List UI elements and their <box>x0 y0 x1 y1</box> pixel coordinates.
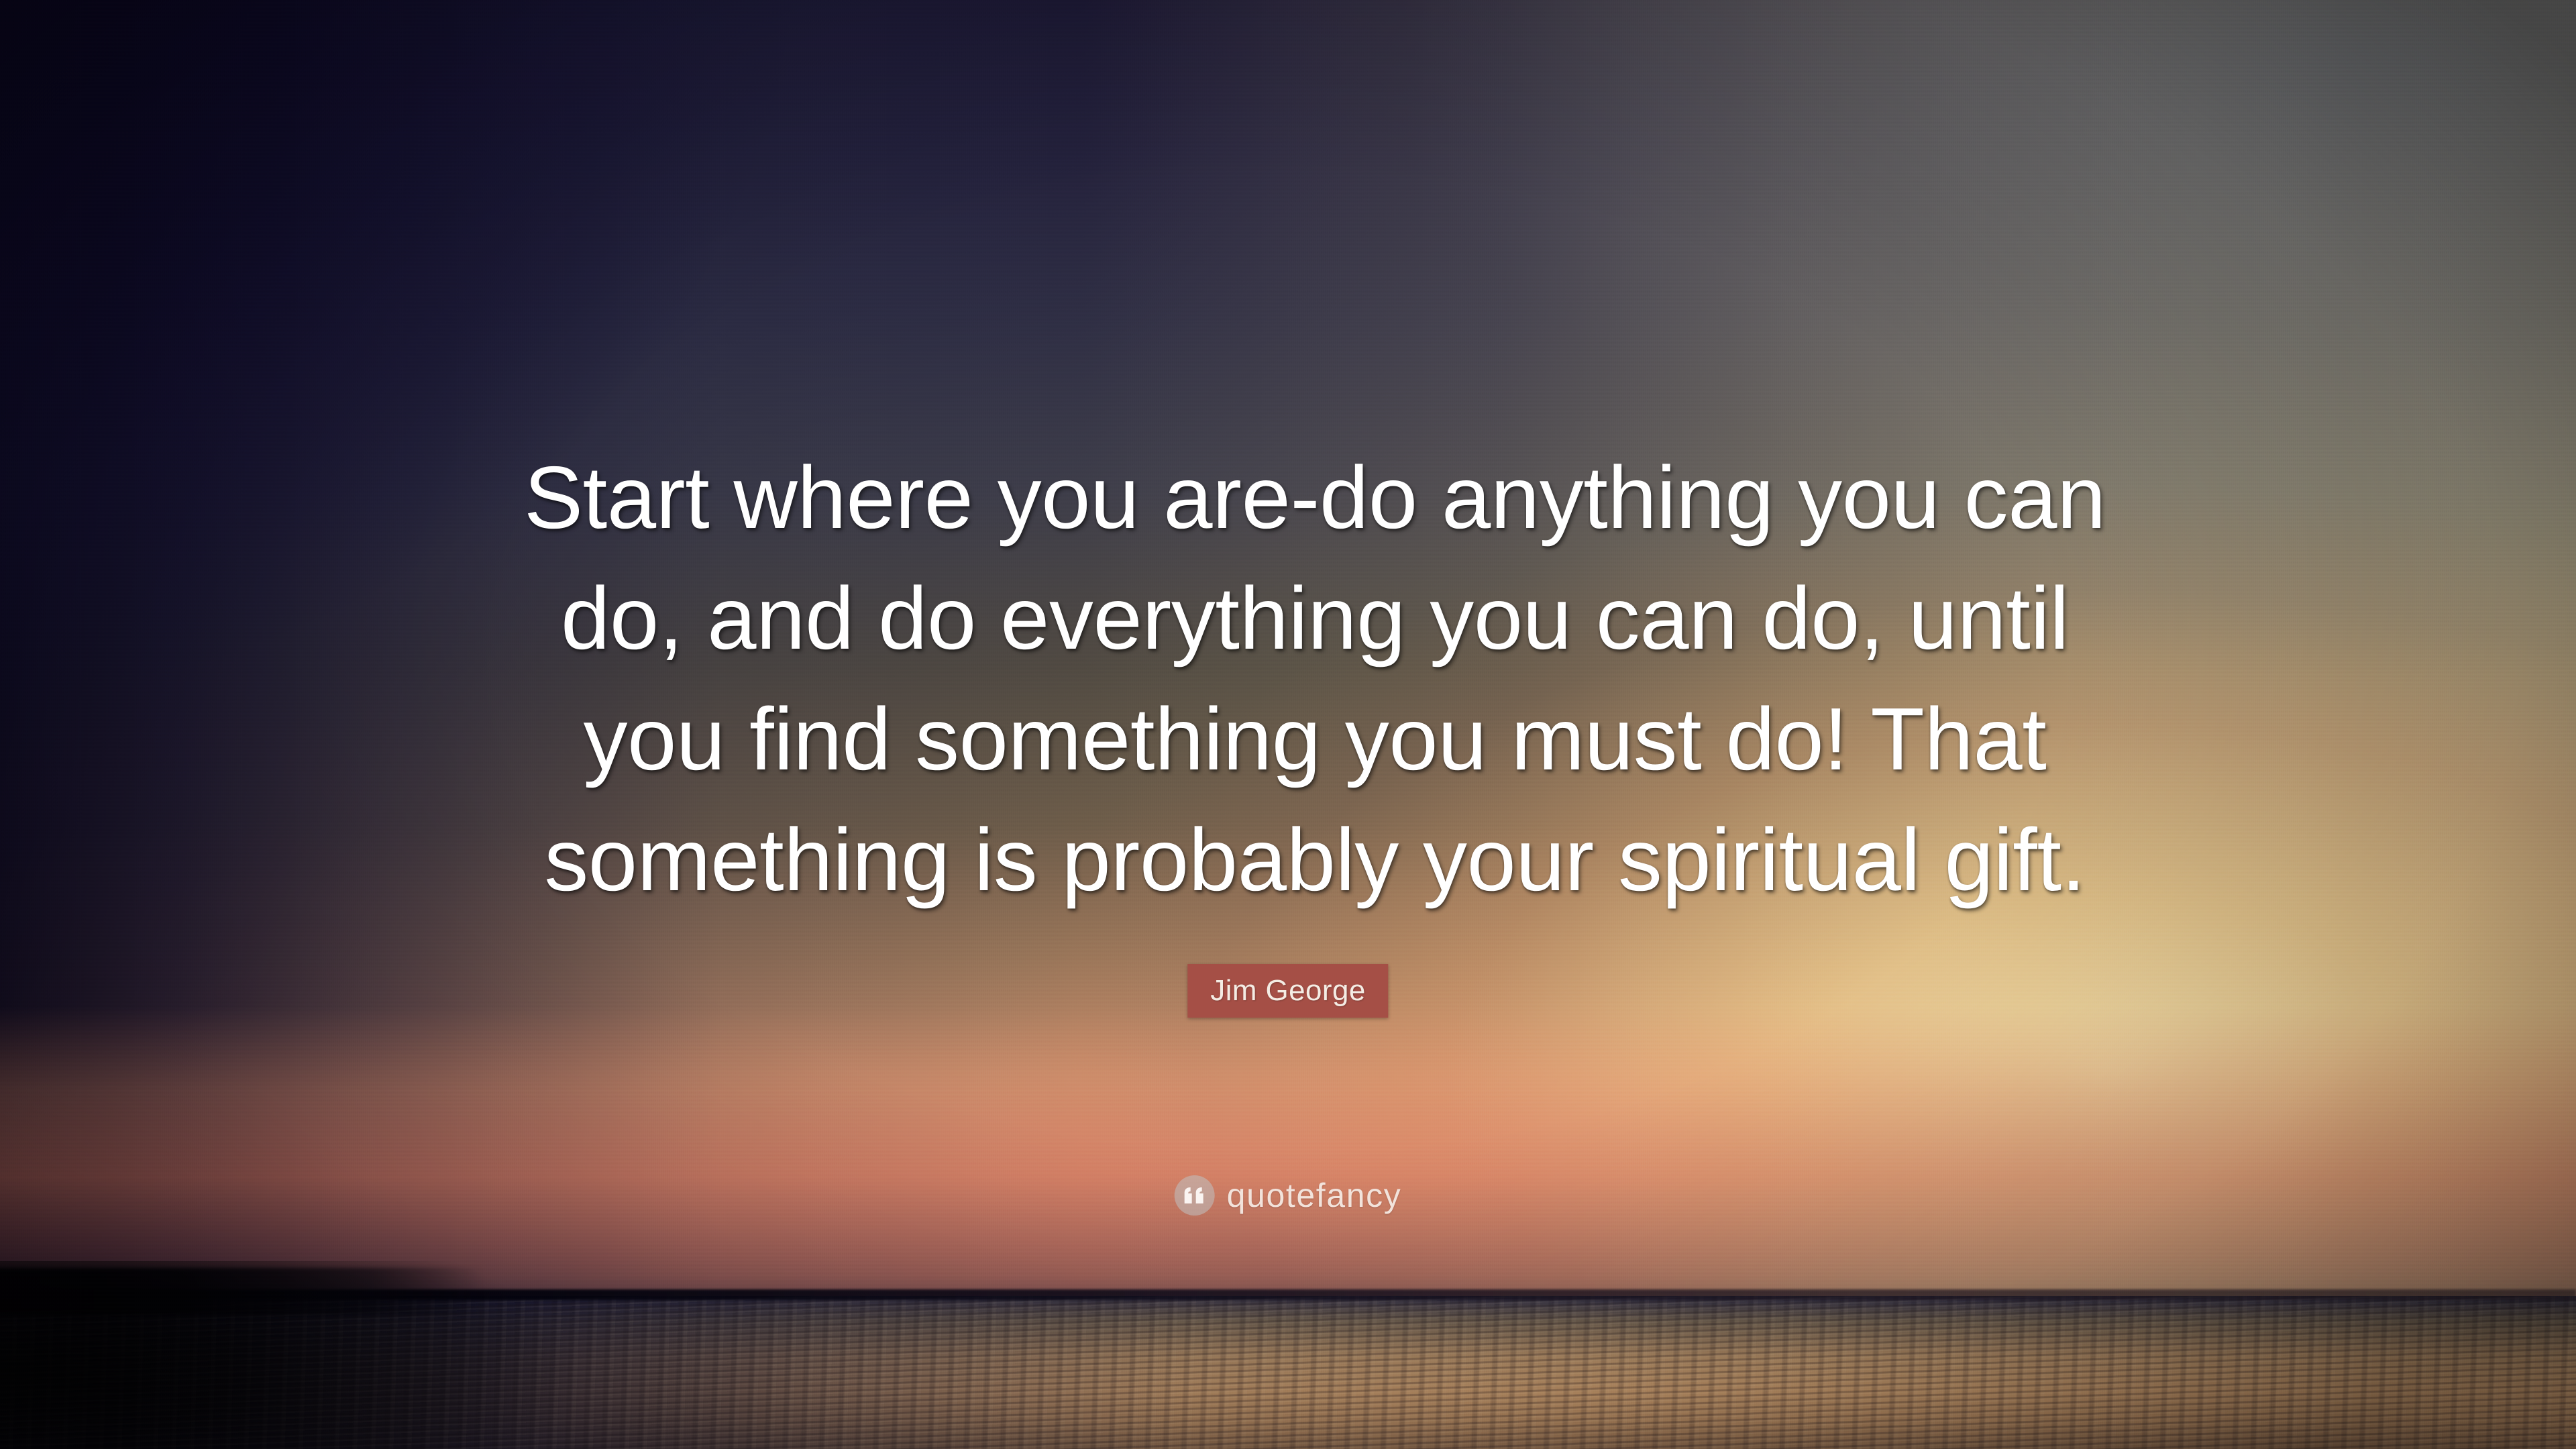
content-overlay: Start where you are-do anything you can … <box>0 0 2576 1449</box>
watermark-brand-text: quotefancy <box>1227 1179 1402 1212</box>
quotefancy-watermark[interactable]: quotefancy <box>1175 1175 1402 1216</box>
quote-line-1: Start where you are-do anything you can <box>409 437 2220 558</box>
wallpaper-canvas: Start where you are-do anything you can … <box>0 0 2576 1449</box>
quote-line-3: you find something you must do! That <box>409 679 2220 800</box>
author-name: Jim George <box>1210 976 1365 1006</box>
quote-line-4: something is probably your spiritual gif… <box>409 800 2220 920</box>
quote-mark-icon <box>1175 1175 1215 1216</box>
quote-text-block: Start where you are-do anything you can … <box>409 437 2220 920</box>
quote-line-2: do, and do everything you can do, until <box>409 558 2220 679</box>
author-badge[interactable]: Jim George <box>1187 964 1388 1018</box>
